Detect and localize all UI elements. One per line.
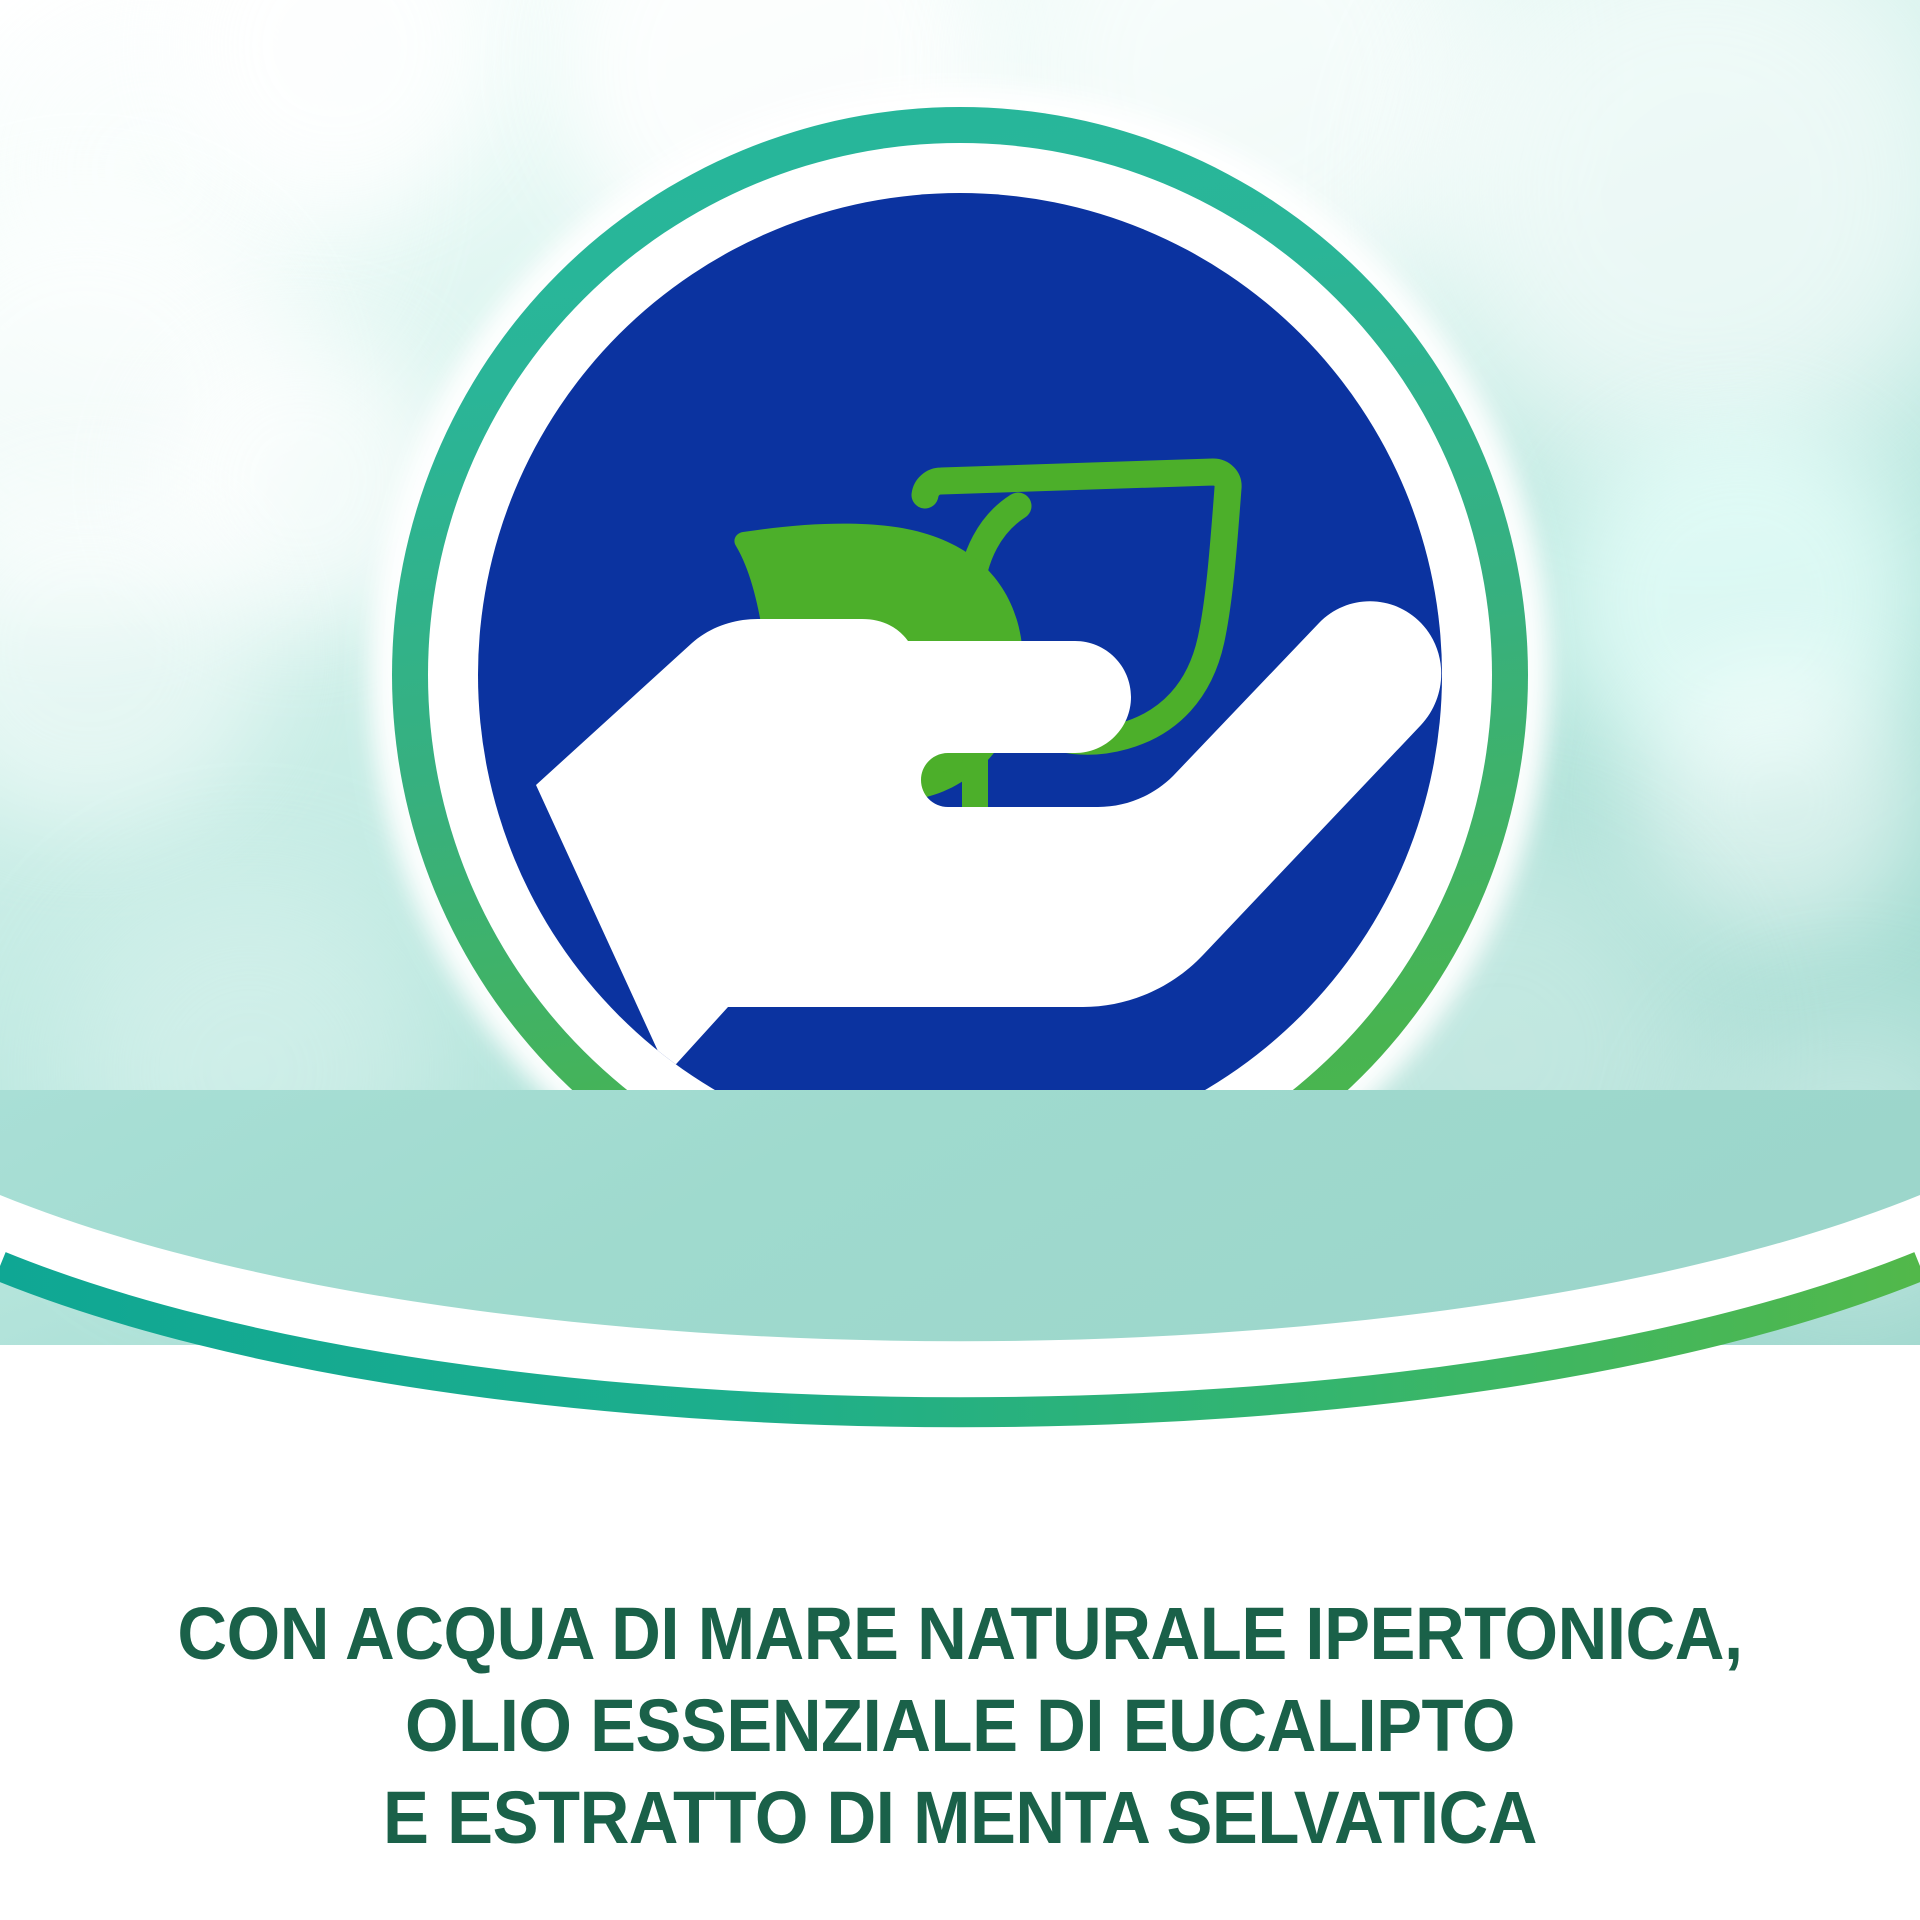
curved-divider	[0, 1090, 1920, 1510]
hand-holding-plant-icon	[478, 193, 1442, 1157]
caption-line-3: E ESTRATTO DI MENTA SELVATICA	[67, 1772, 1853, 1864]
claim-caption: CON ACQUA DI MARE NATURALE IPERTONICA, O…	[67, 1588, 1853, 1864]
circular-emblem	[370, 85, 1550, 1265]
caption-line-1: CON ACQUA DI MARE NATURALE IPERTONICA,	[67, 1588, 1853, 1680]
bokeh-circle	[1640, 660, 1920, 940]
open-palm-hand	[536, 601, 1441, 1073]
emblem-blue-disc	[478, 193, 1442, 1157]
caption-line-2: OLIO ESSENZIALE DI EUCALIPTO	[67, 1680, 1853, 1772]
product-claim-card: CON ACQUA DI MARE NATURALE IPERTONICA, O…	[0, 0, 1920, 1920]
